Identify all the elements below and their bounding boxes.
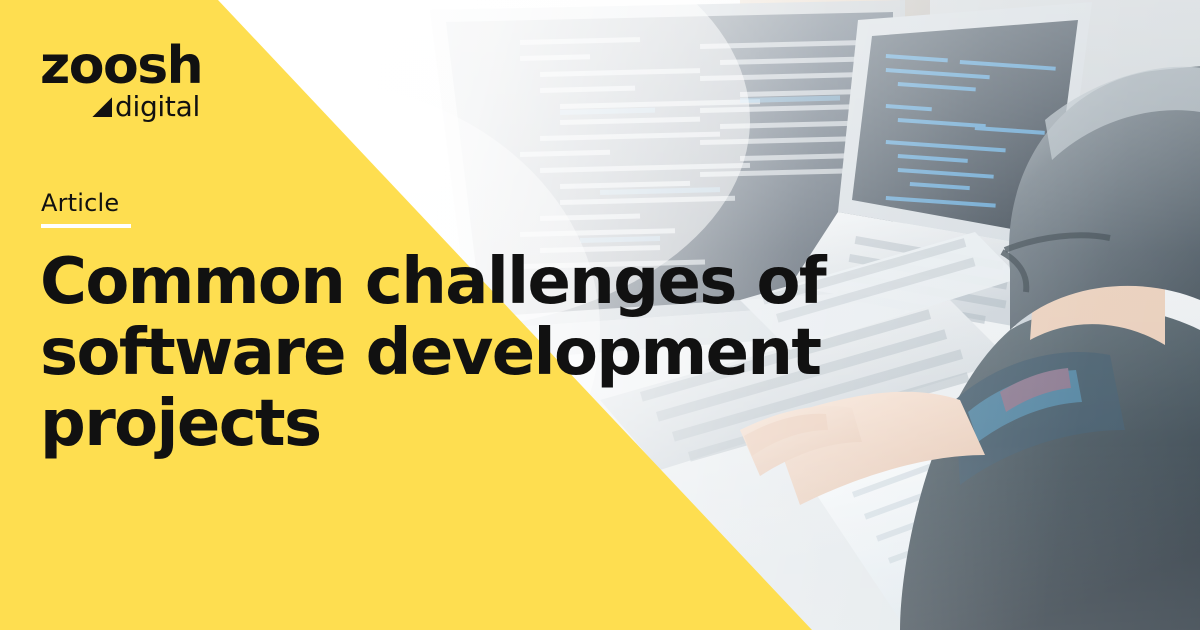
headline-line-2: software development: [40, 318, 830, 389]
banner-content: zoosh digital Article Common challenges …: [0, 0, 1200, 630]
article-banner: zoosh digital Article Common challenges …: [0, 0, 1200, 630]
page-title: Common challenges of software developmen…: [40, 247, 830, 460]
headline-line-1: Common challenges of: [40, 247, 830, 318]
logo-sub-lockup: digital: [92, 93, 202, 121]
category-underline-rule: [41, 224, 131, 228]
headline-line-3: projects: [40, 389, 830, 460]
triangle-wedge-icon: [92, 97, 112, 117]
category-label: Article: [41, 190, 131, 216]
logo-wordmark: zoosh: [40, 42, 202, 91]
logo-sub-wordmark: digital: [115, 93, 200, 121]
category-eyebrow: Article: [41, 190, 131, 228]
brand-logo[interactable]: zoosh digital: [40, 42, 202, 121]
